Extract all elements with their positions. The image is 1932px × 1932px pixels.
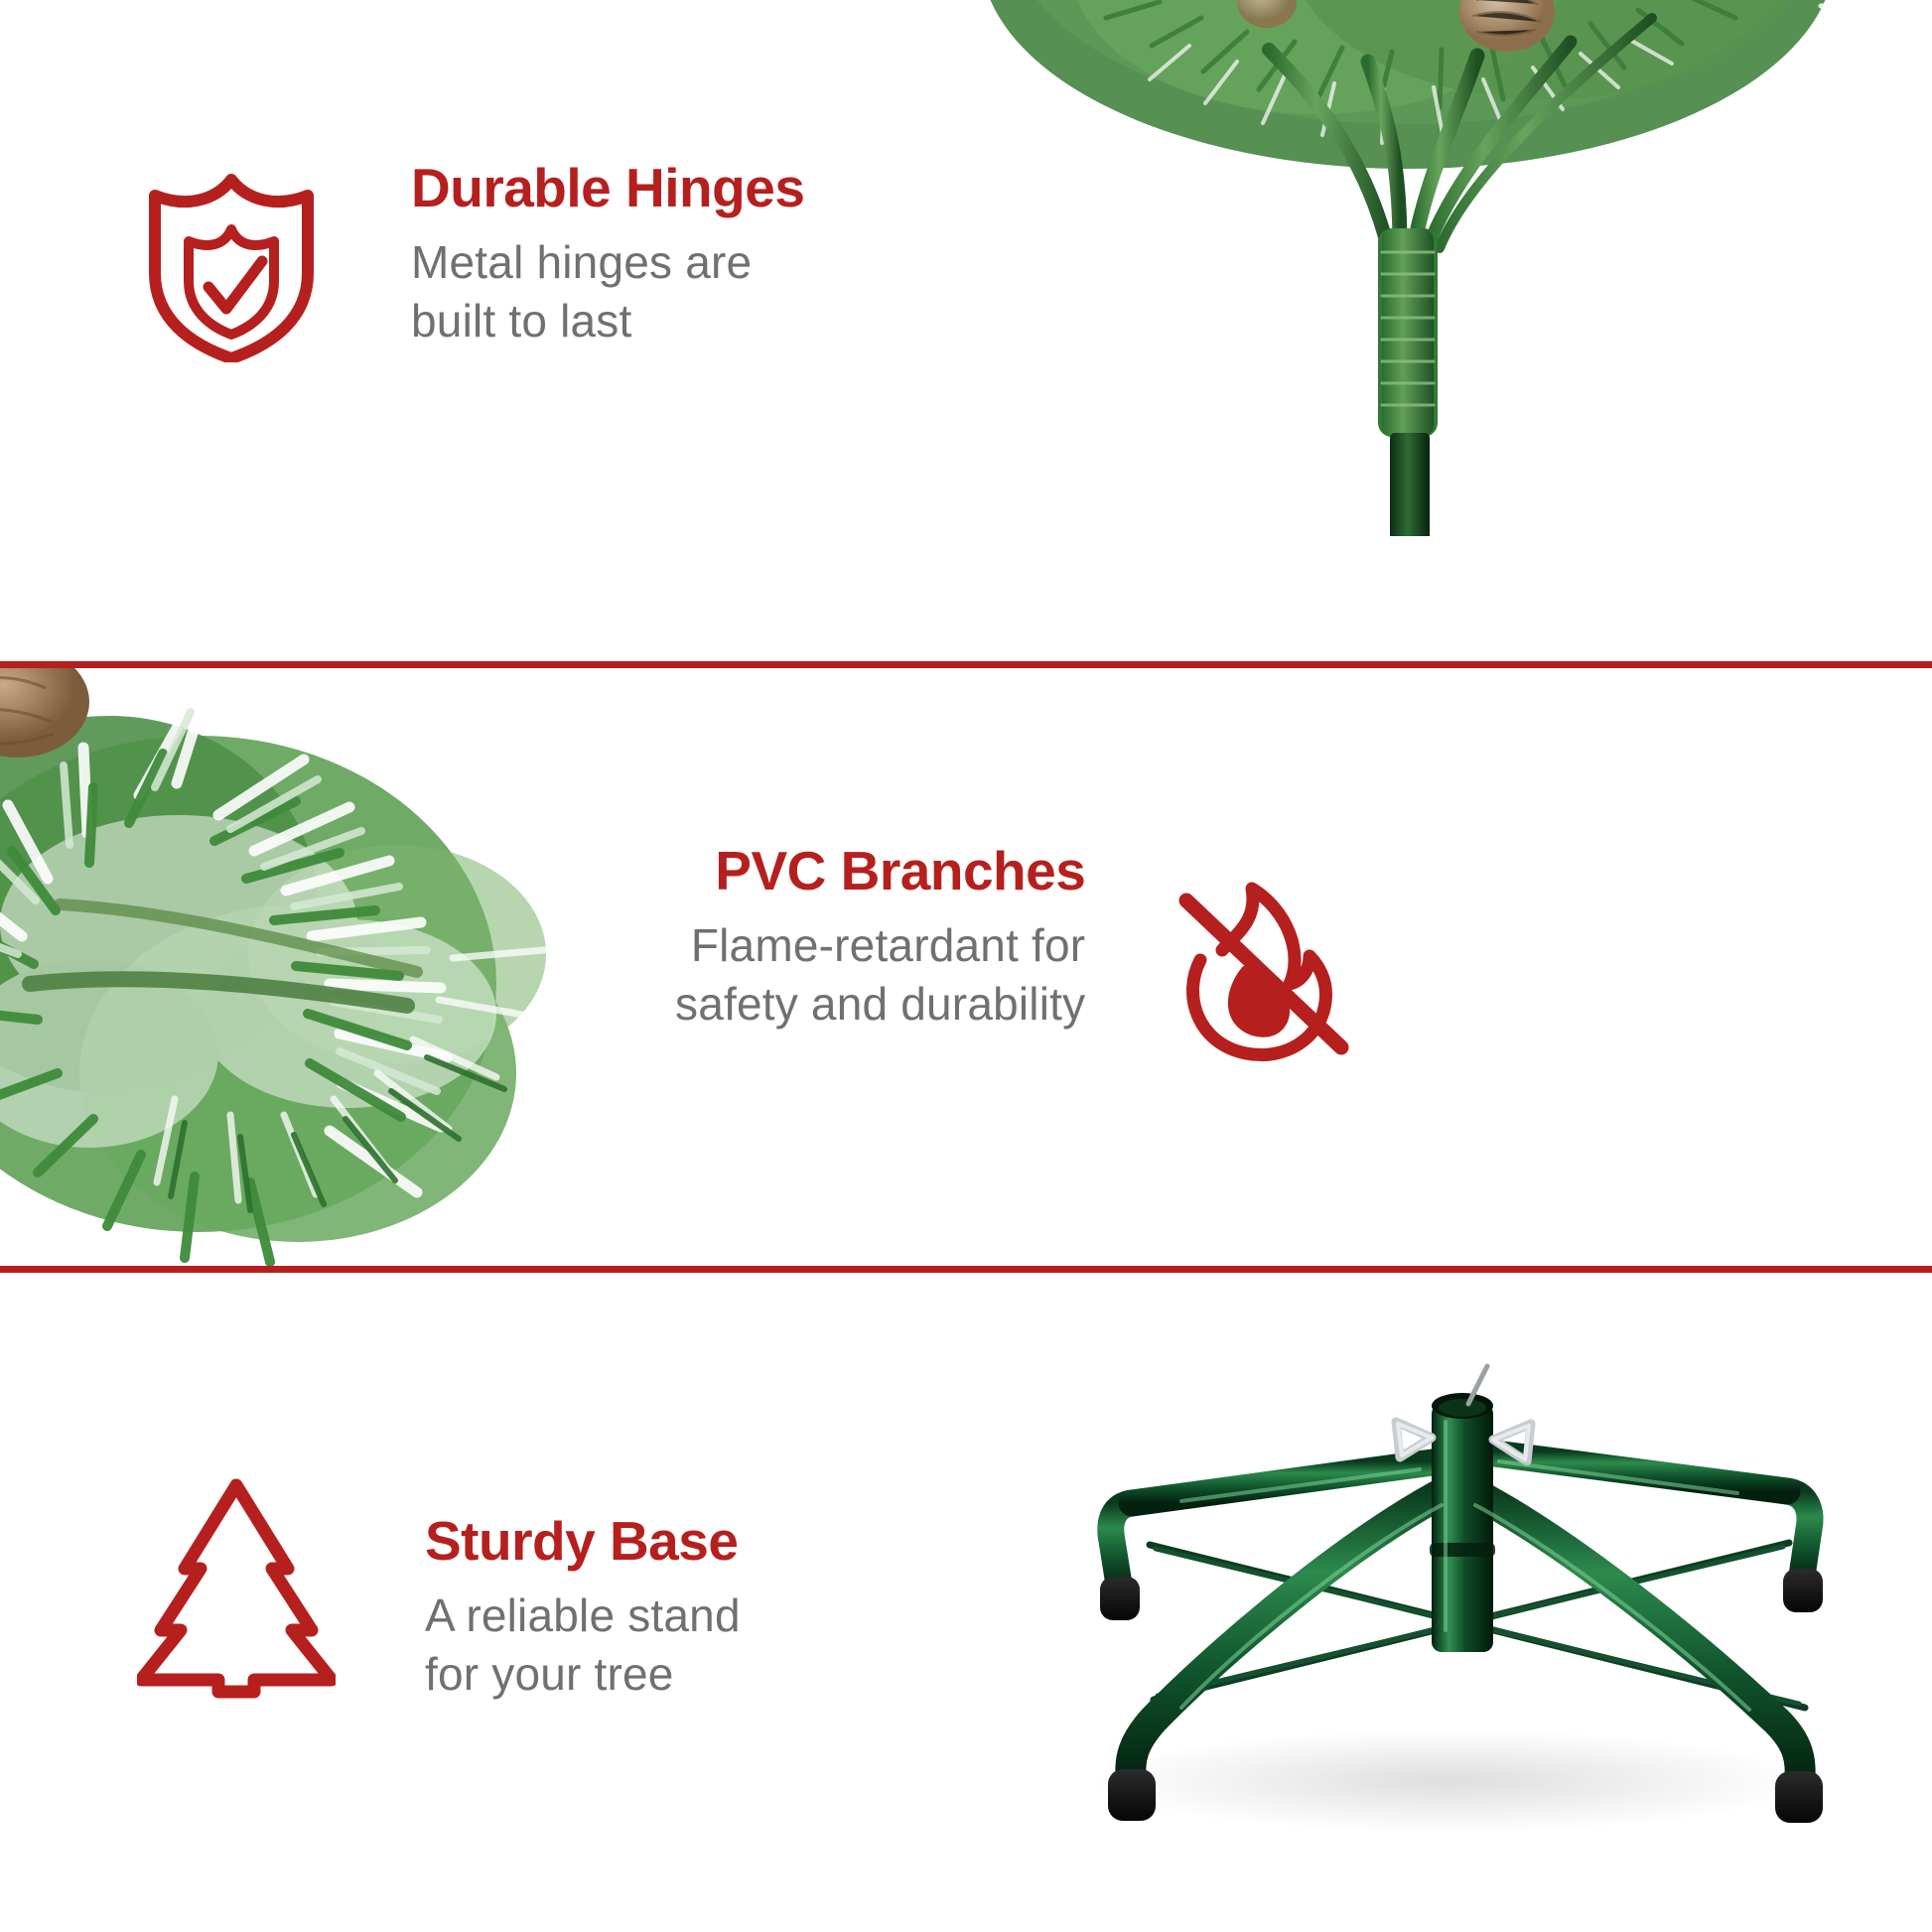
feature-title: Sturdy Base <box>425 1513 741 1571</box>
feature-sturdy-base: Sturdy Base A reliable stand for your tr… <box>137 1471 741 1705</box>
panel-durable-hinges: Durable Hinges Metal hinges are built to… <box>0 0 1932 661</box>
feature-pvc-branches: PVC Branches Flame-retardant for safety … <box>675 843 1369 1082</box>
photo-flocked-branch-closeup <box>0 668 645 1266</box>
feature-text-sturdy-base: Sturdy Base A reliable stand for your tr… <box>425 1513 741 1704</box>
shield-check-icon <box>137 164 326 367</box>
photo-flocked-tree-branch <box>852 0 1932 536</box>
divider-rule-2 <box>0 1266 1932 1273</box>
feature-subtitle-line-2: built to last <box>411 292 804 350</box>
product-feature-infographic: Durable Hinges Metal hinges are built to… <box>0 0 1932 1932</box>
flocked-tree-illustration <box>852 0 1932 536</box>
feature-subtitle: Flame-retardant for safety and durabilit… <box>675 916 1085 1034</box>
panel-sturdy-base: Sturdy Base A reliable stand for your tr… <box>0 1273 1932 1932</box>
pine-tree-outline-icon <box>137 1471 336 1705</box>
photo-tree-stand <box>983 1293 1926 1888</box>
no-flame-icon <box>1161 869 1369 1082</box>
feature-text-pvc-branches: PVC Branches Flame-retardant for safety … <box>675 843 1085 1034</box>
tree-stand-illustration <box>983 1293 1926 1888</box>
feature-subtitle: Metal hinges are built to last <box>411 233 804 350</box>
feature-subtitle-line-1: Metal hinges are <box>411 233 804 292</box>
feature-durable-hinges: Durable Hinges Metal hinges are built to… <box>137 164 804 367</box>
feature-title: PVC Branches <box>715 843 1085 900</box>
feature-subtitle: A reliable stand for your tree <box>425 1587 741 1704</box>
branch-closeup-illustration <box>0 668 645 1266</box>
feature-subtitle-line-1: Flame-retardant for <box>675 916 1085 975</box>
feature-subtitle-line-2: for your tree <box>425 1645 741 1704</box>
feature-subtitle-line-2: safety and durability <box>675 975 1085 1034</box>
panel-pvc-branches: PVC Branches Flame-retardant for safety … <box>0 668 1932 1266</box>
feature-text-durable-hinges: Durable Hinges Metal hinges are built to… <box>411 160 804 350</box>
divider-rule-1 <box>0 661 1932 668</box>
feature-subtitle-line-1: A reliable stand <box>425 1587 741 1645</box>
feature-title: Durable Hinges <box>411 160 804 217</box>
